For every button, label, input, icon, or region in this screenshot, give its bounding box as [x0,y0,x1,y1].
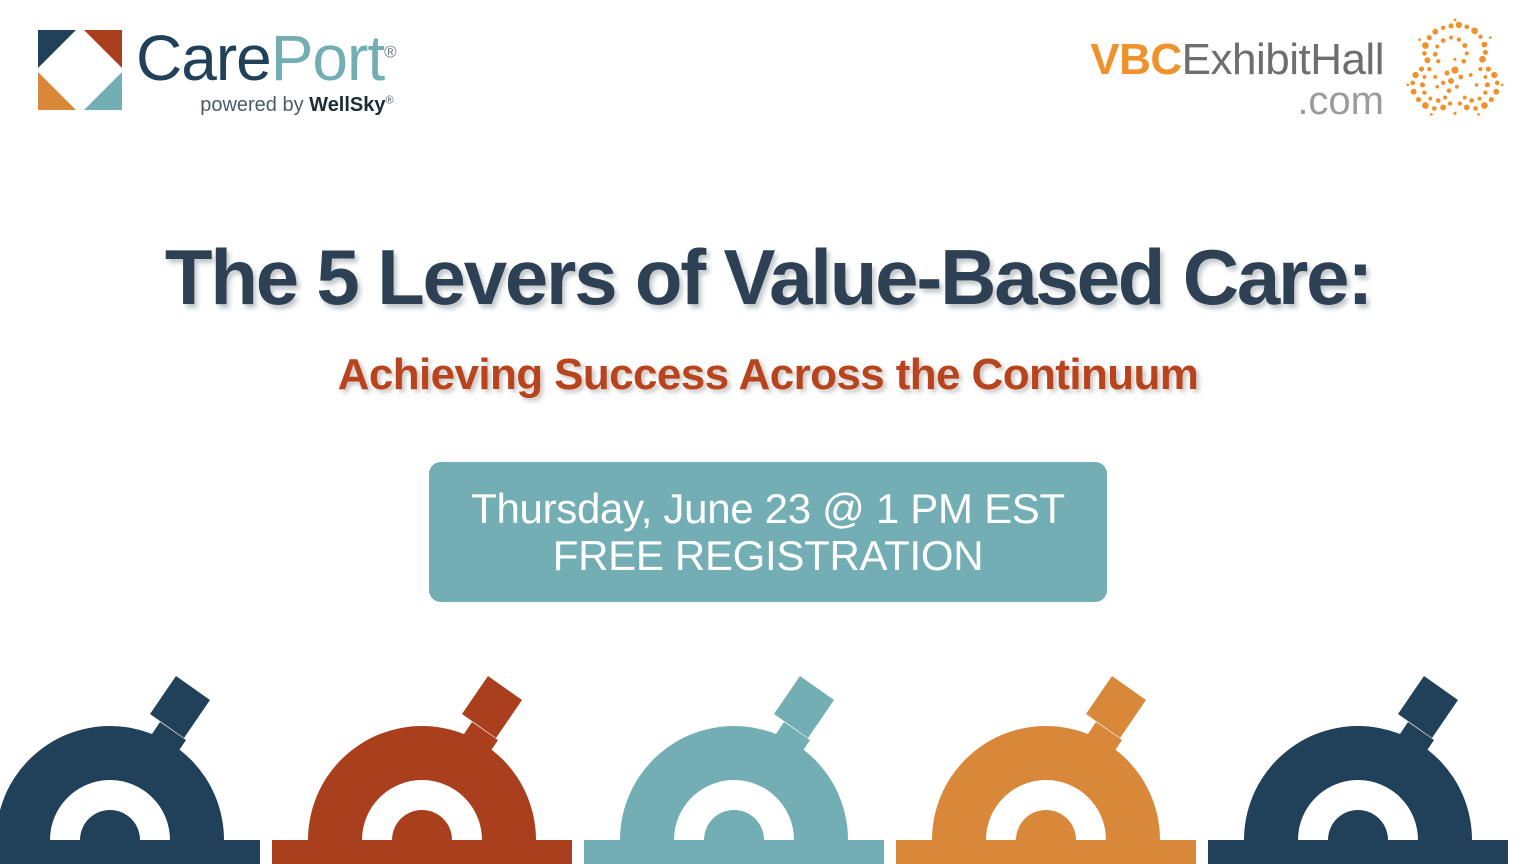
triangle-top-right-icon [84,30,122,68]
free-registration-text: FREE REGISTRATION [553,532,984,579]
triangle-bottom-left-icon [38,72,76,110]
lever-icon-3 [578,634,890,864]
careport-wordmark: CarePort® powered by WellSky® [136,22,396,117]
careport-logo[interactable]: CarePort® powered by WellSky® [36,22,396,117]
lever-icon [266,634,578,864]
lever-icon-1 [0,634,266,864]
careport-registered-mark: ® [384,43,396,62]
lever-icon [0,634,266,864]
careport-tagline-prefix: powered by [200,94,309,116]
careport-wordmark-text: CarePort® [136,26,396,90]
lever-icon [890,634,1202,864]
page-title: The 5 Levers of Value-Based Care: [0,232,1536,323]
lever-icon [1202,634,1514,864]
triangle-top-left-icon [38,30,76,68]
careport-word-care: Care [136,22,271,94]
vbc-dotted-trefoil-mark-icon [1392,16,1510,134]
careport-tagline-registered-mark: ® [386,94,394,106]
triangle-bottom-right-icon [84,72,122,110]
vbc-tld: .com [1090,80,1384,122]
careport-tagline-brand: WellSky [309,94,385,116]
lever-icon-5 [1202,634,1514,864]
vbc-name: ExhibitHall [1182,35,1384,84]
lever-icon-row [0,634,1536,864]
registration-cta-banner[interactable]: Thursday, June 23 @ 1 PM EST FREE REGIST… [429,462,1107,602]
vbc-wordmark: VBCExhibitHall .com [1090,20,1384,122]
careport-word-port: Port [271,22,384,94]
lever-icon [578,634,890,864]
vbc-exhibit-hall-logo[interactable]: VBCExhibitHall .com [1090,20,1510,134]
page-subtitle: Achieving Success Across the Continuum [0,350,1536,400]
careport-four-triangle-mark-icon [36,26,124,114]
lever-icon-4 [890,634,1202,864]
vbc-wordmark-line-1: VBCExhibitHall [1090,38,1384,82]
vbc-prefix: VBC [1090,35,1181,84]
careport-tagline: powered by WellSky® [136,94,396,117]
lever-icon-2 [266,634,578,864]
promo-banner-stage: CarePort® powered by WellSky® VBCExhibit… [0,0,1536,864]
event-datetime-text: Thursday, June 23 @ 1 PM EST [471,485,1065,532]
